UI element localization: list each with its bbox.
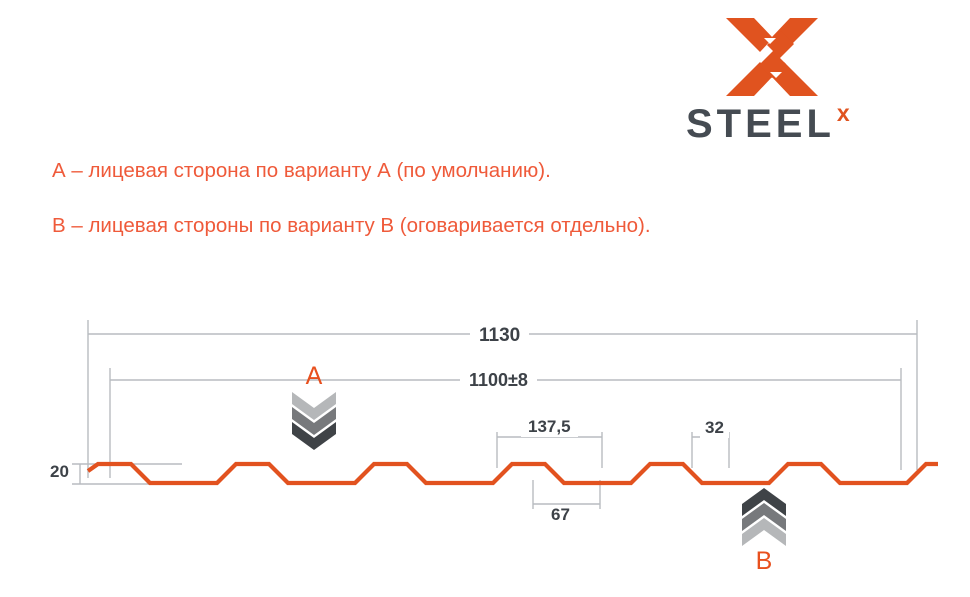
side-marker-a: A <box>286 363 342 450</box>
side-marker-a-letter: A <box>286 363 342 390</box>
side-marker-b: B <box>736 488 792 575</box>
dimension-label-rib-top-width: 32 <box>700 418 729 438</box>
technical-drawing <box>0 0 970 597</box>
corrugated-profile-line <box>88 464 938 483</box>
dimension-label-valley-width: 67 <box>544 505 577 525</box>
dimension-label-profile-height: 20 <box>47 462 72 482</box>
chevron-down-icon <box>286 390 342 450</box>
dimension-label-overall-width: 1130 <box>470 325 529 347</box>
dimension-label-rib-pitch: 137,5 <box>521 417 578 437</box>
dimension-label-effective-width: 1100±8 <box>460 370 537 391</box>
profile-drawing-page: STEEL x А – лицевая сторона по варианту … <box>0 0 970 597</box>
side-marker-b-letter: B <box>736 548 792 575</box>
chevron-up-icon <box>736 488 792 548</box>
